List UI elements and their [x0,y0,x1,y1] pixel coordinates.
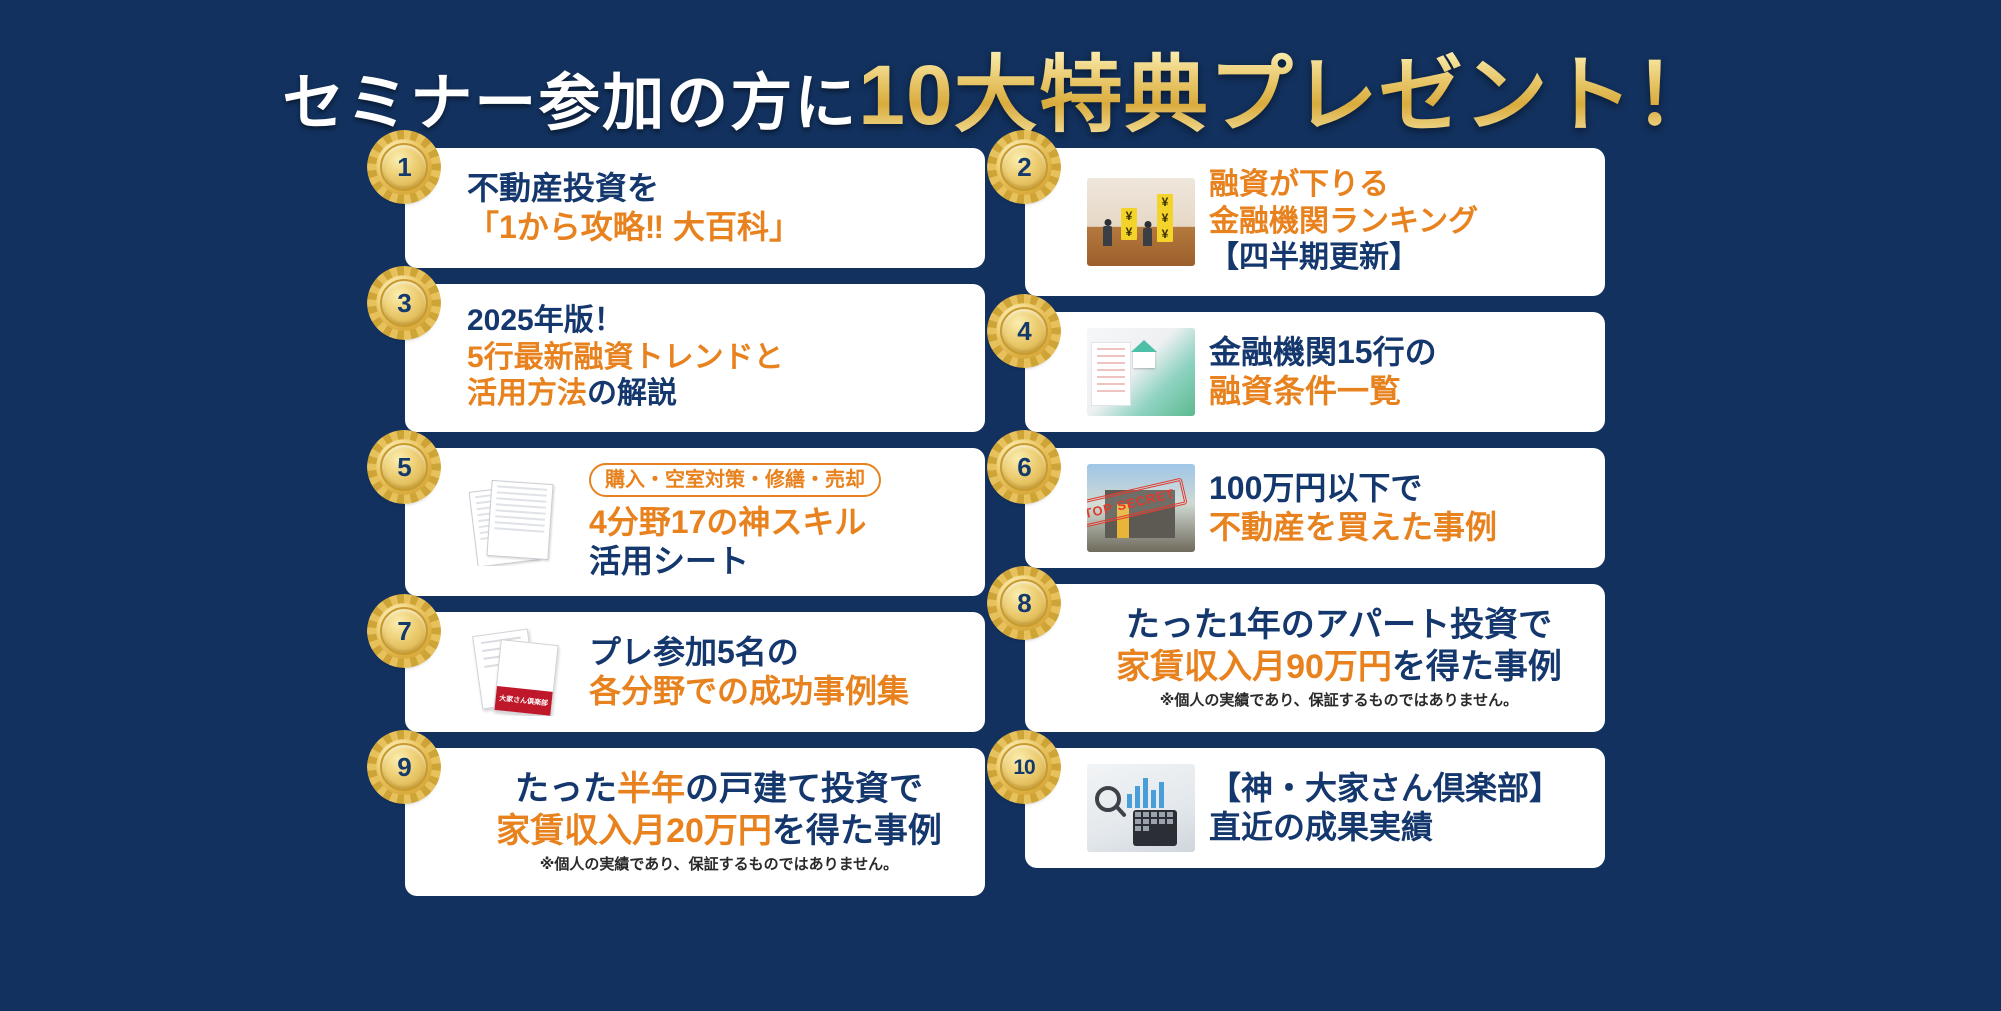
benefit-text-part: 5行最新融資トレンドと [467,341,784,374]
thumbnail-house-model [1087,328,1195,416]
benefit-text: 金融機関15行の融資条件一覧 [1209,333,1591,411]
magnifier-icon [1095,786,1121,812]
benefit-card-10[interactable]: 10【神・大家さん倶楽部】直近の成果実績 [1025,748,1605,868]
benefits-column-left: 1不動産投資を「1から攻略‼ 大百科」32025年版！5行最新融資トレンドと活用… [405,148,985,896]
badge-number: 10 [1013,757,1034,778]
benefit-text: 2025年版！5行最新融資トレンドと活用方法の解説 [467,303,971,413]
house-model-icon [1133,350,1155,368]
benefit-text: 融資が下りる金融機関ランキング【四半期更新】 [1209,167,1591,277]
benefit-text-part: 「1から攻略‼ 大百科」 [467,209,801,245]
thumbnail-documents [467,478,575,566]
benefit-text-part: 半年 [617,770,685,808]
benefit-text: 不動産投資を「1から攻略‼ 大百科」 [467,169,971,247]
benefit-tag-pill: 購入・空室対策・修繕・売却 [589,463,881,497]
benefit-text: 購入・空室対策・修繕・売却4分野17の神スキル活用シート [589,463,971,581]
benefit-line: 直近の成果実績 [1209,808,1591,847]
benefit-text-part: 直近の成果実績 [1209,809,1433,845]
benefit-text: たった1年のアパート投資で家賃収入月90万円を得た事例※個人の実績であり、保証す… [1087,605,1591,710]
benefit-card-7[interactable]: 7大家さん倶楽部プレ参加5名の各分野での成功事例集 [405,612,985,732]
benefit-text-part: 不動産投資を [467,170,659,206]
benefit-card-3[interactable]: 32025年版！5行最新融資トレンドと活用方法の解説 [405,284,985,432]
badge-inner: 8 [1000,579,1048,627]
title-lead: セミナー参加の方に [282,69,858,138]
benefit-text-part: 【神・大家さん倶楽部】 [1209,770,1561,806]
yen-block-icon: ¥ [1157,194,1173,210]
thumbnail-booklets: 大家さん倶楽部 [467,628,575,716]
benefit-line: 【四半期更新】 [1209,240,1591,277]
benefit-text: たった半年の戸建て投資で家賃収入月20万円を得た事例※個人の実績であり、保証する… [467,769,971,874]
benefit-number-badge-6: 6 [991,434,1057,500]
bar-chart-icon [1127,774,1164,808]
benefit-text-part: 融資が下りる [1209,168,1389,201]
benefit-text-part: 金融機関15行の [1209,334,1437,370]
benefit-line: 家賃収入月90万円を得た事例 [1087,647,1591,688]
benefit-line: 【神・大家さん倶楽部】 [1209,769,1591,808]
badge-inner: 1 [380,143,428,191]
benefit-text-part: の戸建て投資で [685,770,923,808]
benefit-text-part: 家賃収入月90万円 [1116,648,1392,686]
benefit-card-5[interactable]: 5購入・空室対策・修繕・売却4分野17の神スキル活用シート [405,448,985,596]
benefit-line: たった1年のアパート投資で [1087,605,1591,646]
badge-inner: 5 [380,443,428,491]
benefit-line: プレ参加5名の [589,633,971,672]
benefit-number-badge-7: 7 [371,598,437,664]
benefits-grid: 1不動産投資を「1から攻略‼ 大百科」32025年版！5行最新融資トレンドと活用… [405,148,1605,896]
benefit-number-badge-2: 2 [991,134,1057,200]
benefit-text-part: 100万円以下で [1209,470,1422,506]
benefit-number-badge-5: 5 [371,434,437,500]
benefit-text-part: を得た事例 [772,812,942,850]
yen-block-icon: ¥ [1157,210,1173,226]
benefit-text-part: を得た事例 [1392,648,1562,686]
benefit-line: 「1から攻略‼ 大百科」 [467,208,971,247]
benefit-text-part: 2025年版！ [467,304,624,337]
benefit-text-part: 1年 [1228,606,1281,644]
benefit-line: 金融機関ランキング [1209,204,1591,241]
badge-inner: 4 [1000,307,1048,355]
benefit-number-badge-4: 4 [991,298,1057,364]
poster-root: セミナー参加の方に10大特典プレゼント！ 1不動産投資を「1から攻略‼ 大百科」… [0,0,2001,1011]
benefit-number-badge-8: 8 [991,570,1057,636]
benefit-number-badge-3: 3 [371,270,437,336]
benefit-card-2[interactable]: 2¥¥¥¥¥融資が下りる金融機関ランキング【四半期更新】 [1025,148,1605,296]
benefit-disclaimer: ※個人の実績であり、保証するものではありません。 [467,856,971,874]
badge-number: 2 [1017,154,1030,180]
benefit-number-badge-10: 10 [991,734,1057,800]
benefit-text-part: 活用方法 [467,377,587,410]
badge-number: 8 [1017,590,1030,616]
page-title: セミナー参加の方に10大特典プレゼント！ [0,28,2001,149]
benefit-number-badge-1: 1 [371,134,437,200]
booklet-cover: 大家さん倶楽部 [493,639,558,716]
benefit-line: 各分野での成功事例集 [589,672,971,711]
benefit-text-part: 不動産を買えた事例 [1209,509,1497,545]
benefit-text-part: たった [515,770,617,808]
benefit-line: たった半年の戸建て投資で [467,769,971,810]
benefit-line: 融資条件一覧 [1209,372,1591,411]
title-highlight: 10大特典プレゼント！ [858,48,1718,142]
benefit-line: 100万円以下で [1209,469,1591,508]
benefit-text-part: たった [1126,606,1228,644]
badge-number: 9 [397,754,410,780]
badge-number: 5 [397,454,410,480]
benefit-text-part: のアパート投資で [1281,606,1552,644]
badge-number: 7 [397,618,410,644]
benefits-column-right: 2¥¥¥¥¥融資が下りる金融機関ランキング【四半期更新】4金融機関15行の融資条… [1025,148,1605,896]
thumbnail-chart-calculator [1087,764,1195,852]
benefit-text: 【神・大家さん倶楽部】直近の成果実績 [1209,769,1591,847]
person-figure [1103,226,1112,246]
benefit-text-part: 家賃収入月20万円 [496,812,772,850]
benefit-line: 不動産投資を [467,169,971,208]
benefit-text-part: 【四半期更新】 [1209,241,1419,274]
document-sheet [1091,342,1131,406]
benefit-line: 家賃収入月20万円を得た事例 [467,811,971,852]
benefit-line: 5行最新融資トレンドと [467,340,971,377]
benefit-line: 4分野17の神スキル [589,503,971,542]
benefit-text: 100万円以下で不動産を買えた事例 [1209,469,1591,547]
benefit-card-8[interactable]: 8たった1年のアパート投資で家賃収入月90万円を得た事例※個人の実績であり、保証… [1025,584,1605,732]
house-roof-icon [1131,340,1157,352]
benefit-line: 2025年版！ [467,303,971,340]
yen-block-icon: ¥ [1121,224,1137,240]
badge-inner: 2 [1000,143,1048,191]
document-sheet [486,480,553,560]
benefit-card-6[interactable]: 6TOP SECRET100万円以下で不動産を買えた事例 [1025,448,1605,568]
yen-block-icon: ¥ [1121,208,1137,224]
benefit-number-badge-9: 9 [371,734,437,800]
person-figure [1143,228,1152,246]
badge-inner: 10 [1000,743,1048,791]
benefit-text-part: 各分野での成功事例集 [589,673,909,709]
badge-inner: 3 [380,279,428,327]
benefit-text: プレ参加5名の各分野での成功事例集 [589,633,971,711]
benefit-text-part: の解説 [587,377,677,410]
badge-number: 6 [1017,454,1030,480]
benefit-line: 活用シート [589,542,971,581]
benefit-text-part: プレ参加5名の [589,634,799,670]
badge-number: 4 [1017,318,1030,344]
benefit-card-9[interactable]: 9たった半年の戸建て投資で家賃収入月20万円を得た事例※個人の実績であり、保証す… [405,748,985,896]
badge-number: 3 [397,290,410,316]
badge-inner: 6 [1000,443,1048,491]
thumbnail-yen-blocks: ¥¥¥¥¥ [1087,178,1195,266]
benefit-text-part: 金融機関ランキング [1209,205,1478,238]
thumbnail-house-exterior: TOP SECRET [1087,464,1195,552]
benefit-disclaimer: ※個人の実績であり、保証するものではありません。 [1087,692,1591,710]
benefit-text-part: 4分野17の神スキル [589,504,866,540]
calculator-icon [1133,810,1177,846]
benefit-line: 不動産を買えた事例 [1209,508,1591,547]
badge-number: 1 [397,154,410,180]
benefit-text-part: 融資条件一覧 [1209,373,1401,409]
benefit-text-part: 活用シート [589,543,749,579]
benefit-line: 金融機関15行の [1209,333,1591,372]
benefit-line: 融資が下りる [1209,167,1591,204]
benefit-card-1[interactable]: 1不動産投資を「1から攻略‼ 大百科」 [405,148,985,268]
badge-inner: 9 [380,743,428,791]
booklet-label: 大家さん倶楽部 [499,693,549,708]
benefit-line: 活用方法の解説 [467,376,971,413]
benefit-card-4[interactable]: 4金融機関15行の融資条件一覧 [1025,312,1605,432]
yen-block-icon: ¥ [1157,226,1173,242]
badge-inner: 7 [380,607,428,655]
